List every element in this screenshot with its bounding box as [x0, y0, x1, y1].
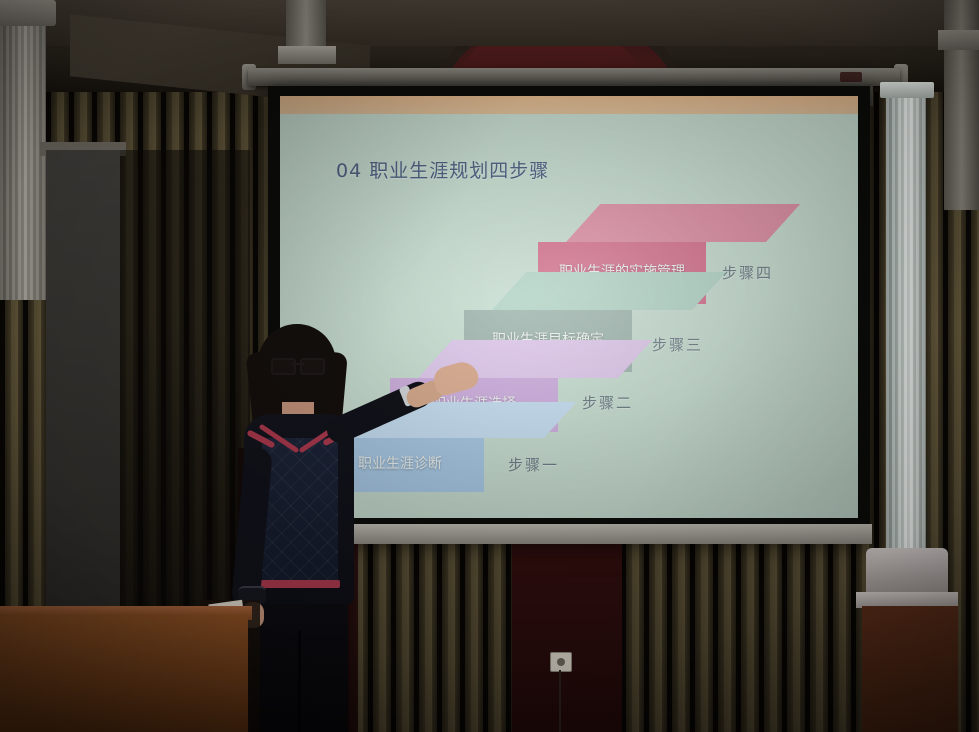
lecture-room-photo: 04 职业生涯规划四步骤 职业生涯的实施管理 步骤四 职业生涯目标确定	[0, 0, 979, 732]
step-four-label: 步骤四	[722, 262, 773, 283]
step-four-top	[566, 204, 800, 242]
column-right-capital	[880, 82, 934, 98]
vest-hem	[260, 580, 340, 588]
presenter-leg-seam	[298, 630, 301, 732]
roller-brand-mark	[840, 72, 862, 82]
outlet-cord	[559, 670, 561, 732]
lectern	[0, 614, 248, 732]
door-left	[46, 150, 120, 610]
column-far-right-capital	[938, 30, 979, 50]
step-three-label: 步骤三	[652, 334, 703, 355]
glasses-lens-left	[271, 358, 296, 375]
step-three-top	[492, 272, 726, 310]
column-mid-left-capital	[278, 46, 336, 64]
column-left-capital	[0, 0, 56, 26]
step-two-label: 步骤二	[582, 392, 633, 413]
glasses-lens-right	[300, 358, 325, 375]
column-right	[886, 88, 926, 558]
wall-power-outlet	[550, 652, 572, 672]
projection-screen-roller	[248, 68, 900, 86]
presenter-pointing-hand	[431, 358, 481, 397]
column-pedestal	[862, 606, 958, 732]
glasses-icon	[271, 358, 325, 371]
presenter-vest	[262, 438, 338, 588]
step-one-label: 步骤一	[508, 454, 559, 475]
